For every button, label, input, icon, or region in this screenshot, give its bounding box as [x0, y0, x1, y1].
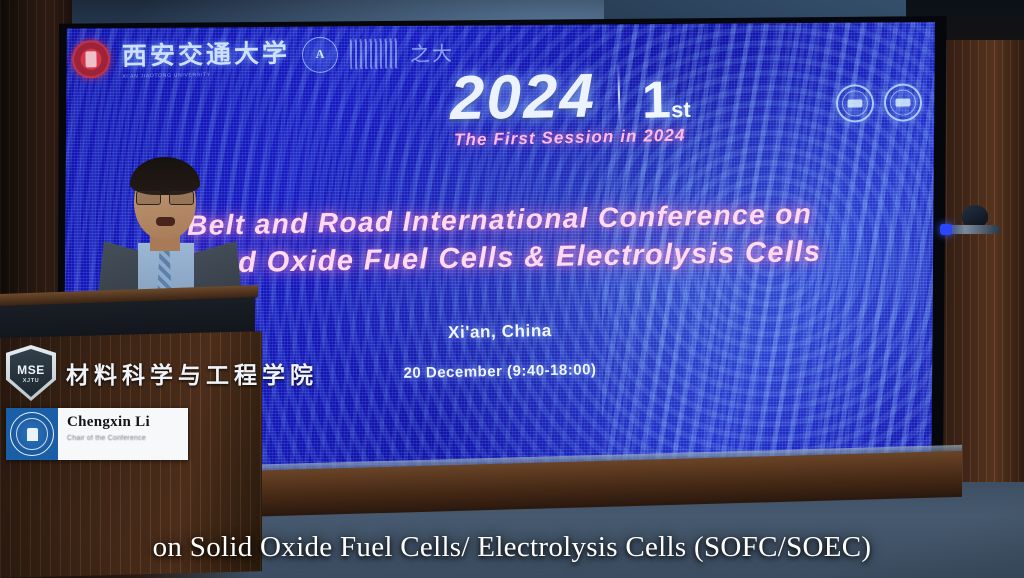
speaker-name-card: Chengxin Li Chair of the Conference [6, 408, 188, 460]
podium-banner-text: 材料科学与工程学院 [66, 356, 318, 390]
mouth [156, 217, 175, 226]
hair [130, 157, 200, 195]
partner-seal-2-icon [884, 83, 923, 122]
mse-shield-top: MSE [17, 363, 45, 377]
university-name-cn: 西安交通大学 [122, 33, 291, 72]
ceiling-camera-icon [940, 205, 1002, 245]
year-divider [617, 65, 620, 123]
session-subtitle: The First Session in 2024 [454, 126, 686, 151]
year-heading-row: 2024 1 st [449, 64, 690, 130]
partner-letter: A [303, 37, 338, 72]
camera-dome [962, 205, 988, 227]
speaker-role: Chair of the Conference [67, 435, 188, 442]
name-card-badge [6, 408, 58, 460]
screen-right-seals [836, 83, 923, 122]
speaker-name: Chengxin Li [67, 414, 188, 431]
ordinal-group: 1 st [642, 74, 691, 127]
xjtu-seal-icon [72, 39, 111, 78]
video-frame: 西安交通大学 XI'AN JIAOTONG UNIVERSITY A 之大 20… [0, 0, 1024, 578]
ordinal-suffix: st [671, 99, 691, 121]
university-seal-icon [10, 412, 54, 456]
partner-seal-a-icon: A [302, 36, 339, 73]
partner-mark-text: 之大 [410, 37, 455, 67]
video-caption: on Solid Oxide Fuel Cells/ Electrolysis … [0, 531, 1024, 564]
year-text: 2024 [449, 66, 596, 131]
partner-seal-1-icon [836, 84, 875, 123]
mse-shield-icon: MSE XJTU [6, 345, 56, 401]
partner-block-icon [350, 38, 399, 69]
mse-shield-bottom: XJTU [23, 378, 39, 384]
name-card-text: Chengxin Li Chair of the Conference [58, 408, 188, 460]
podium-banner: MSE XJTU 材料科学与工程学院 [6, 345, 318, 401]
screen-logo-row: 西安交通大学 XI'AN JIAOTONG UNIVERSITY A 之大 [72, 30, 455, 80]
camera-led-indicator [940, 224, 952, 235]
glasses-icon [136, 191, 194, 203]
ordinal-number: 1 [642, 74, 672, 126]
